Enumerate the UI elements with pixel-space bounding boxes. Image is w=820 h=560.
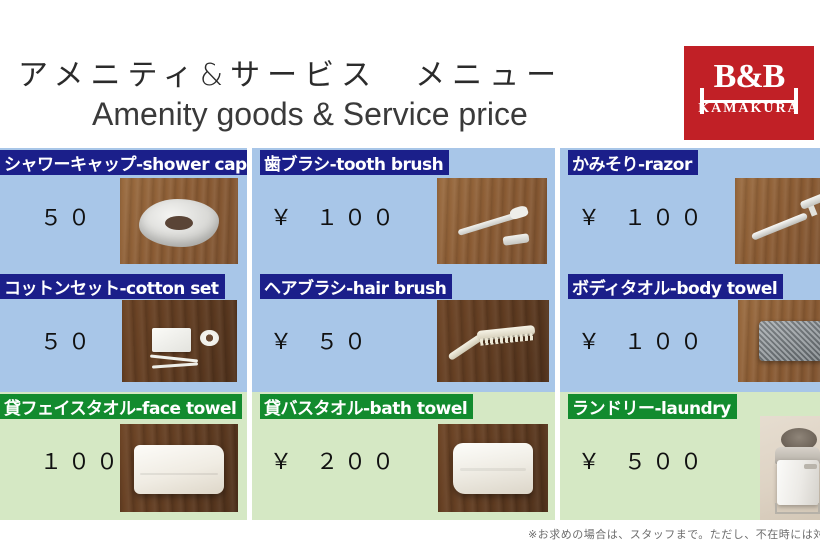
item-cell-cotton-set[interactable]: コットンセット-cotton set ５０ [0,272,247,392]
page-title-english: Amenity goods & Service price [92,96,528,133]
item-label-laundry: ランドリー-laundry [568,394,737,419]
item-cell-tooth-brush[interactable]: 歯ブラシ-tooth brush ￥１００ [252,148,555,272]
price-amount-hair-brush: ５０ [316,330,372,355]
cotton-pad-pack-object [152,328,191,353]
price-amount-laundry: ５００ [624,450,708,475]
body-towel-object [759,321,820,360]
item-label-hair-brush: ヘアブラシ-hair brush [260,274,452,299]
yen-symbol-body-towel: ￥ [578,330,602,355]
item-cell-laundry[interactable]: ランドリー-laundry ￥５００ [560,392,820,520]
item-label-shower-cap: シャワーキャップ-shower cap [0,150,247,175]
item-cell-razor[interactable]: かみそり-razor ￥１００ [560,148,820,272]
price-amount-body-towel: １００ [624,330,708,355]
item-price-hair-brush: ￥５０ [270,324,372,356]
item-price-tooth-brush: ￥１００ [270,200,400,232]
yen-symbol-hair-brush: ￥ [270,330,294,355]
logo-location-text: KAMAKURA [684,102,814,116]
price-row-2: コットンセット-cotton set ５０ ヘアブラシ-hair brush ￥… [0,272,820,392]
item-label-cotton-set: コットンセット-cotton set [0,274,225,299]
tooth-paste-object [503,233,530,245]
item-cell-shower-cap[interactable]: シャワーキャップ-shower cap ５０ [0,148,247,272]
price-amount-bath-towel: ２００ [316,450,400,475]
page-title-japanese: アメニティ&サービス メニュー [18,50,563,94]
logo-inner: B&B KAMAKURA [684,46,814,140]
item-cell-body-towel[interactable]: ボディタオル-body towel ￥１００ [560,272,820,392]
item-label-bath-towel: 貸バスタオル-bath towel [260,394,473,419]
item-cell-bath-towel[interactable]: 貸バスタオル-bath towel ￥２００ [252,392,555,520]
bath-towel-object [453,443,532,494]
item-photo-body-towel [738,300,820,382]
price-row-3: 貸フェイスタオル-face towel １００ 貸バスタオル-bath towe… [0,392,820,520]
page-header: アメニティ&サービス メニュー Amenity goods & Service … [0,0,820,148]
yen-symbol-bath-towel: ￥ [270,450,294,475]
item-price-razor: ￥１００ [578,200,708,232]
price-amount-razor: １００ [624,206,708,231]
price-amount-face-towel: １００ [40,450,124,475]
cotton-roll-object [200,330,218,346]
cotton-swab-object-2 [152,362,198,368]
bnb-kamakura-logo: B&B KAMAKURA [684,46,814,140]
footnote-text: ※お求めの場合は、スタッフまで。ただし、不在時には対応でき [528,526,820,542]
price-row-1: シャワーキャップ-shower cap ５０ 歯ブラシ-tooth brush … [0,148,820,272]
face-towel-object [134,445,224,494]
price-amount-shower-cap: ５０ [40,206,96,231]
price-amount-tooth-brush: １００ [316,206,400,231]
price-amount-cotton-set: ５０ [40,330,96,355]
item-price-body-towel: ￥１００ [578,324,708,356]
tooth-brush-head-object [508,205,528,221]
item-price-cotton-set: ５０ [18,324,96,356]
item-label-tooth-brush: 歯ブラシ-tooth brush [260,150,449,175]
price-grid: シャワーキャップ-shower cap ５０ 歯ブラシ-tooth brush … [0,148,820,520]
item-price-shower-cap: ５０ [18,200,96,232]
item-price-laundry: ￥５００ [578,444,708,476]
amenity-price-menu-page: アメニティ&サービス メニュー Amenity goods & Service … [0,0,820,560]
item-photo-face-towel [120,424,238,512]
item-photo-razor [735,178,820,264]
item-label-razor: かみそり-razor [568,150,698,175]
item-photo-shower-cap [120,178,238,264]
razor-handle-object [751,212,808,240]
yen-symbol-razor: ￥ [578,206,602,231]
item-label-body-towel: ボディタオル-body towel [568,274,783,299]
item-label-face-towel: 貸フェイスタオル-face towel [0,394,242,419]
yen-symbol-laundry: ￥ [578,450,602,475]
item-price-face-towel: １００ [18,444,124,476]
shower-cap-object [139,199,219,247]
item-photo-laundry [760,416,820,520]
washing-machine-panel-object [804,464,818,469]
item-cell-hair-brush[interactable]: ヘアブラシ-hair brush ￥５０ [252,272,555,392]
item-photo-tooth-brush [437,178,547,264]
item-photo-bath-towel [438,424,548,512]
item-photo-hair-brush [437,300,549,382]
logo-brand-text: B&B [684,60,814,94]
item-photo-cotton-set [122,300,237,382]
item-price-bath-towel: ￥２００ [270,444,400,476]
tooth-brush-handle-object [457,212,518,236]
washing-machine-stand-object [775,503,820,513]
item-cell-face-towel[interactable]: 貸フェイスタオル-face towel １００ [0,392,247,520]
yen-symbol-tooth-brush: ￥ [270,206,294,231]
